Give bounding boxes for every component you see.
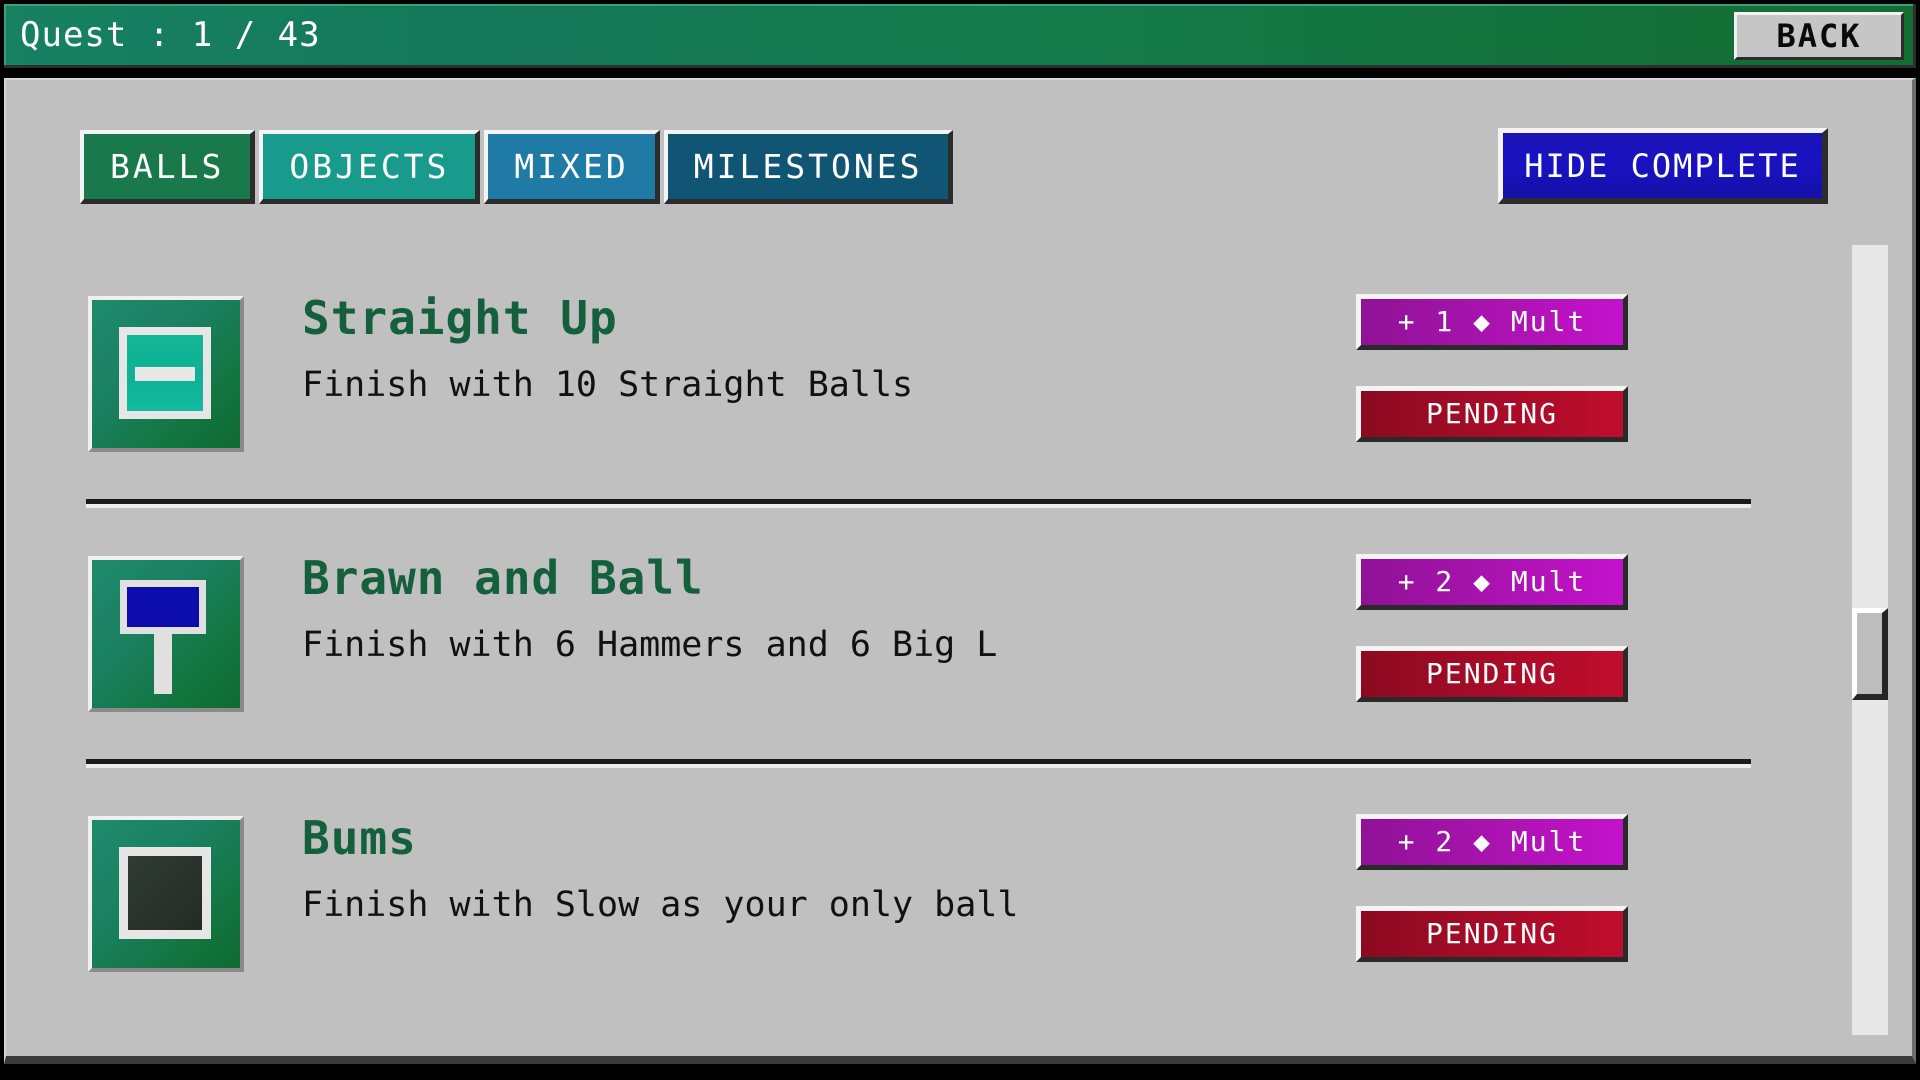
quest-description: Finish with Slow as your only ball bbox=[302, 886, 1452, 924]
reward-badge-label: + 2 ◆ Mult bbox=[1398, 828, 1587, 856]
reward-badge[interactable]: + 1 ◆ Mult bbox=[1356, 294, 1628, 350]
tab-balls-label: BALLS bbox=[110, 150, 224, 183]
status-badge[interactable]: PENDING bbox=[1356, 906, 1628, 962]
tab-milestones-label: MILESTONES bbox=[694, 150, 923, 183]
straight-line-icon-bar bbox=[135, 367, 196, 381]
quest-text: Brawn and Ball Finish with 6 Hammers and… bbox=[302, 552, 1452, 664]
reward-badge[interactable]: + 2 ◆ Mult bbox=[1356, 814, 1628, 870]
quest-list: Straight Up Finish with 10 Straight Ball… bbox=[6, 248, 1806, 1048]
quest-description: Finish with 6 Hammers and 6 Big L bbox=[302, 626, 1452, 664]
status-badge-label: PENDING bbox=[1426, 660, 1558, 688]
quest-icon bbox=[88, 556, 244, 712]
title-bar: Quest : 1 / 43 BACK bbox=[4, 4, 1916, 68]
quest-icon bbox=[88, 816, 244, 972]
scrollbar-thumb[interactable] bbox=[1852, 608, 1888, 700]
quest-description: Finish with 10 Straight Balls bbox=[302, 366, 1452, 404]
hide-complete-button[interactable]: HIDE COMPLETE bbox=[1498, 128, 1828, 204]
quest-text: Straight Up Finish with 10 Straight Ball… bbox=[302, 292, 1452, 404]
back-button-label: BACK bbox=[1776, 20, 1861, 52]
tab-objects-label: OBJECTS bbox=[289, 150, 449, 183]
tab-milestones[interactable]: MILESTONES bbox=[664, 130, 954, 204]
quest-badges: + 2 ◆ Mult PENDING bbox=[1356, 814, 1628, 962]
quest-row[interactable]: Straight Up Finish with 10 Straight Ball… bbox=[6, 248, 1806, 508]
status-badge-label: PENDING bbox=[1426, 400, 1558, 428]
reward-badge-label: + 1 ◆ Mult bbox=[1398, 308, 1587, 336]
dark-ball-icon-inner bbox=[128, 856, 202, 930]
quest-panel: BALLS OBJECTS MIXED MILESTONES HIDE COMP… bbox=[4, 78, 1916, 1064]
hammer-icon bbox=[92, 560, 240, 708]
straight-line-icon bbox=[119, 327, 211, 419]
quest-title: Brawn and Ball bbox=[302, 552, 1452, 604]
status-badge[interactable]: PENDING bbox=[1356, 646, 1628, 702]
quest-badges: + 1 ◆ Mult PENDING bbox=[1356, 294, 1628, 442]
tab-balls[interactable]: BALLS bbox=[80, 130, 255, 204]
quest-icon bbox=[88, 296, 244, 452]
reward-badge-label: + 2 ◆ Mult bbox=[1398, 568, 1587, 596]
quest-title: Bums bbox=[302, 812, 1452, 864]
quest-separator bbox=[86, 499, 1751, 508]
tab-mixed-label: MIXED bbox=[514, 150, 628, 183]
quest-title: Straight Up bbox=[302, 292, 1452, 344]
quest-text: Bums Finish with Slow as your only ball bbox=[302, 812, 1452, 924]
quest-row[interactable]: Bums Finish with Slow as your only ball … bbox=[6, 768, 1806, 1028]
straight-line-icon-inner bbox=[127, 335, 203, 411]
game-screen: Quest : 1 / 43 BACK BALLS OBJECTS MIXED … bbox=[0, 0, 1920, 1080]
reward-badge[interactable]: + 2 ◆ Mult bbox=[1356, 554, 1628, 610]
dark-ball-icon bbox=[119, 847, 211, 939]
scrollbar-track[interactable] bbox=[1852, 245, 1888, 1035]
status-badge-label: PENDING bbox=[1426, 920, 1558, 948]
tab-mixed[interactable]: MIXED bbox=[484, 130, 659, 204]
quest-separator bbox=[86, 759, 1751, 768]
back-button[interactable]: BACK bbox=[1734, 12, 1904, 60]
quest-badges: + 2 ◆ Mult PENDING bbox=[1356, 554, 1628, 702]
category-tabs: BALLS OBJECTS MIXED MILESTONES bbox=[80, 130, 953, 204]
hammer-icon-head bbox=[120, 580, 206, 634]
hide-complete-label: HIDE COMPLETE bbox=[1524, 150, 1800, 182]
quest-row[interactable]: Brawn and Ball Finish with 6 Hammers and… bbox=[6, 508, 1806, 768]
status-badge[interactable]: PENDING bbox=[1356, 386, 1628, 442]
tab-objects[interactable]: OBJECTS bbox=[259, 130, 480, 204]
page-title: Quest : 1 / 43 bbox=[20, 16, 321, 54]
hammer-icon-handle bbox=[154, 628, 172, 694]
